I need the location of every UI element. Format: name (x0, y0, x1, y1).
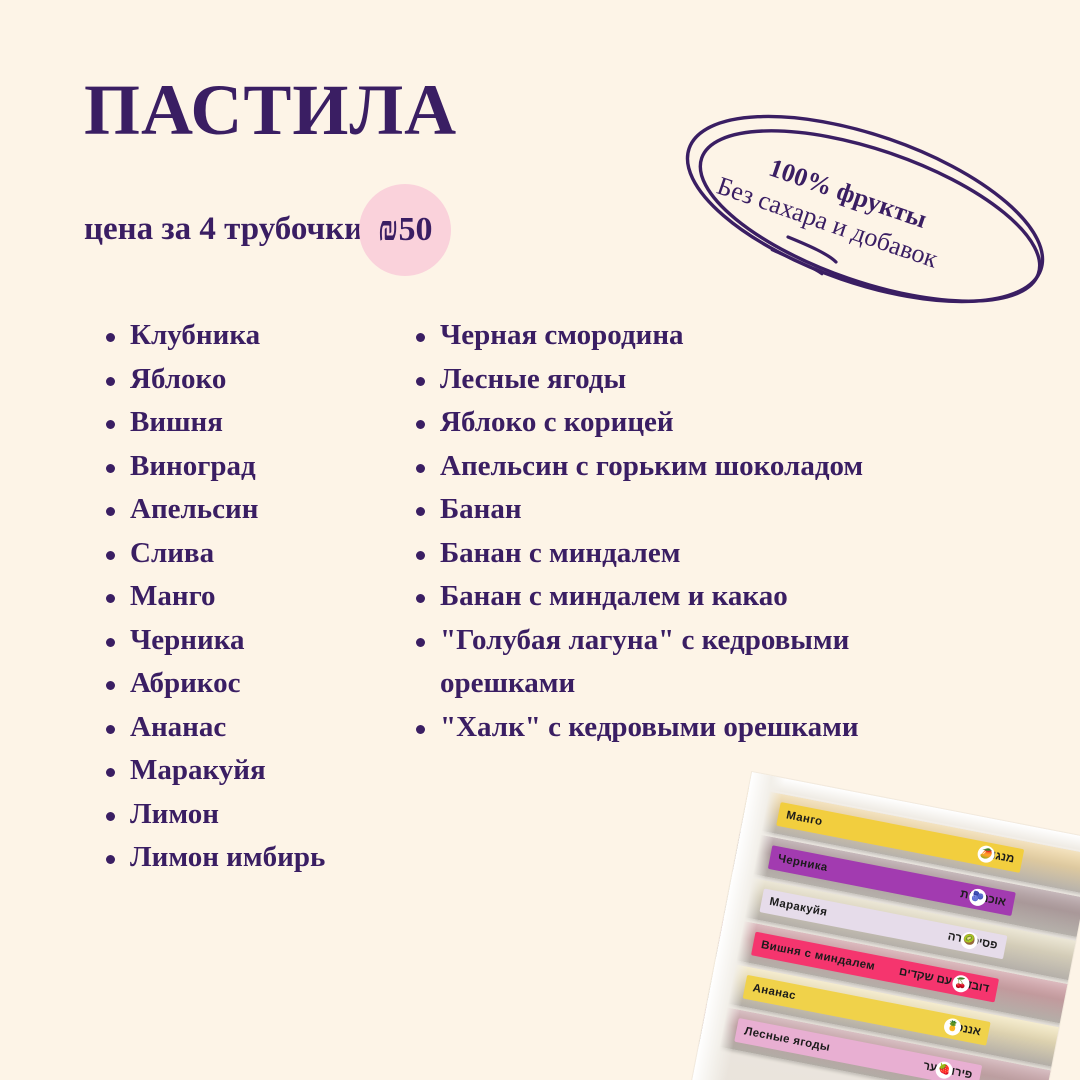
product-photo: Мангоמנגו🥭Черникаאוכמניות🫐Маракуйяפסיפלו… (685, 772, 1080, 1080)
flavor-item: Виноград (100, 445, 390, 489)
roll-label-ru: Черника (777, 853, 829, 874)
flavor-list-right: Черная смородинаЛесные ягодыЯблоко с кор… (410, 314, 970, 749)
quality-stamp-badge: 100% фрукты Без сахара и добавок (660, 104, 1070, 319)
flavor-item: Маракуйя (100, 749, 390, 793)
roll-label-ru: Ананас (752, 982, 797, 1002)
page-title: ПАСТИЛА (84, 74, 457, 146)
flavor-item: Банан (410, 488, 970, 532)
flavor-item: Клубника (100, 314, 390, 358)
flavor-item: Черника (100, 619, 390, 663)
flavor-list-left: КлубникаЯблокоВишняВиноградАпельсинСлива… (100, 314, 390, 880)
flavor-item: Абрикос (100, 662, 390, 706)
price-label: цена за 4 трубочки (84, 211, 363, 250)
flavor-item: "Голубая лагуна" с кедровыми орешками (410, 619, 970, 706)
flavor-item: Слива (100, 532, 390, 576)
flavor-item: Яблоко с корицей (410, 401, 970, 445)
flavor-item: Вишня (100, 401, 390, 445)
stamp-ellipse-icon (660, 104, 1070, 319)
price-value: ₪50 (378, 211, 433, 249)
roll-label-ru: Маракуйя (768, 896, 828, 919)
roll-label-ru: Манго (785, 809, 823, 828)
flavor-item: Банан с миндалем (410, 532, 970, 576)
flavor-item: Лесные ягоды (410, 358, 970, 402)
flavor-item: Яблоко (100, 358, 390, 402)
flavor-item: "Халк" с кедровыми орешками (410, 706, 970, 750)
poster-canvas: ПАСТИЛА цена за 4 трубочки ₪50 100% фрук… (0, 0, 1080, 1080)
flavor-item: Черная смородина (410, 314, 970, 358)
flavor-item: Апельсин с горьким шоколадом (410, 445, 970, 489)
flavor-item: Лимон (100, 793, 390, 837)
flavor-item: Ананас (100, 706, 390, 750)
flavor-item: Апельсин (100, 488, 390, 532)
price-line: цена за 4 трубочки ₪50 (84, 184, 451, 276)
price-badge: ₪50 (359, 184, 451, 276)
flavor-item: Банан с миндалем и какао (410, 575, 970, 619)
flavor-item: Лимон имбирь (100, 836, 390, 880)
flavor-item: Манго (100, 575, 390, 619)
